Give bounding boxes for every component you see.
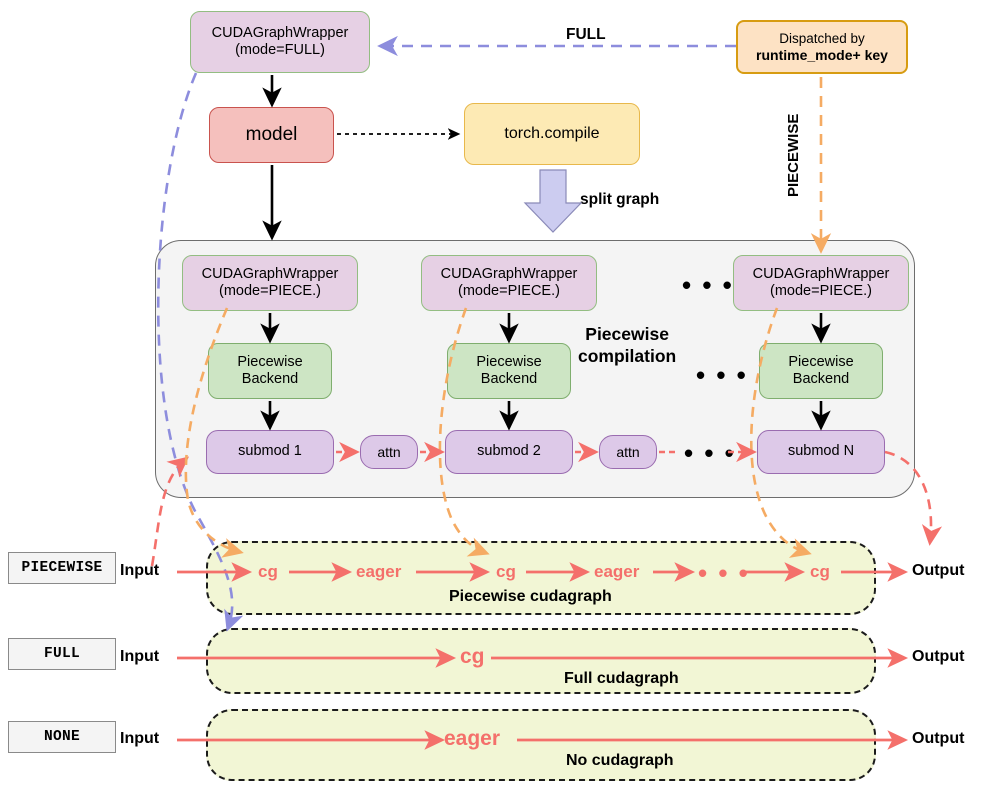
backend-3-line2: Backend	[793, 371, 849, 388]
lane1-stage-1: cg	[258, 562, 278, 582]
backend-2-line1: Piecewise	[476, 354, 541, 371]
wrapper-full-line2: (mode=FULL)	[235, 42, 325, 59]
lane2-output-label: Output	[912, 648, 964, 666]
lane2-stage-1: cg	[460, 645, 485, 669]
piecewise-backend-3[interactable]: Piecewise Backend	[759, 343, 883, 399]
group-ellipsis-backends: • • •	[696, 362, 748, 388]
submod-n[interactable]: submod N	[757, 430, 885, 474]
mode-chip-piecewise-label: PIECEWISE	[21, 560, 102, 576]
mode-chip-full[interactable]: FULL	[8, 638, 116, 670]
piecewise-backend-1[interactable]: Piecewise Backend	[208, 343, 332, 399]
mode-chip-none[interactable]: NONE	[8, 721, 116, 753]
dispatcher-line1: Dispatched by	[779, 31, 865, 47]
diagram-canvas: CUDAGraphWrapper (mode=FULL) model torch…	[0, 0, 985, 800]
submod-2-label: submod 2	[477, 443, 541, 460]
wrapper-piece-2-line1: CUDAGraphWrapper	[441, 266, 578, 283]
wrapper-piece-2-line2: (mode=PIECE.)	[458, 283, 560, 300]
backend-1-line2: Backend	[242, 371, 298, 388]
lane1-stage-4: eager	[594, 562, 639, 582]
piecewise-backend-2[interactable]: Piecewise Backend	[447, 343, 571, 399]
attn-1-label: attn	[377, 444, 400, 461]
submod-n-label: submod N	[788, 443, 854, 460]
cudagraph-wrapper-full-node[interactable]: CUDAGraphWrapper (mode=FULL)	[190, 11, 370, 73]
wrapper-piece-1-line2: (mode=PIECE.)	[219, 283, 321, 300]
model-label: model	[246, 124, 298, 146]
mode-chip-none-label: NONE	[44, 729, 80, 745]
wrapper-piece-3-line1: CUDAGraphWrapper	[753, 266, 890, 283]
lane1-stage-3: cg	[496, 562, 516, 582]
mode-chip-piecewise[interactable]: PIECEWISE	[8, 552, 116, 584]
submod-2[interactable]: submod 2	[445, 430, 573, 474]
wrapper-full-line1: CUDAGraphWrapper	[212, 25, 349, 42]
wrapper-piece-3-line2: (mode=PIECE.)	[770, 283, 872, 300]
piecewise-title-line2: compilation	[578, 346, 676, 368]
lane-box-full	[206, 628, 876, 694]
mode-chip-full-label: FULL	[44, 646, 80, 662]
attn-node-2[interactable]: attn	[599, 435, 657, 469]
lane2-caption: Full cudagraph	[564, 670, 679, 688]
torch-compile-label: torch.compile	[504, 125, 599, 144]
cudagraph-wrapper-piece-3[interactable]: CUDAGraphWrapper (mode=PIECE.)	[733, 255, 909, 311]
lane1-output-label: Output	[912, 562, 964, 580]
wrapper-piece-1-line1: CUDAGraphWrapper	[202, 266, 339, 283]
lane-box-none	[206, 709, 876, 781]
dispatcher-line2: runtime_mode+ key	[756, 47, 888, 64]
backend-3-line1: Piecewise	[788, 354, 853, 371]
piecewise-compilation-title: Piecewise compilation	[578, 324, 676, 368]
lane3-input-label: Input	[120, 730, 159, 748]
lane2-input-label: Input	[120, 648, 159, 666]
lane3-stage-1: eager	[444, 727, 500, 751]
attn-2-label: attn	[616, 444, 639, 461]
model-node[interactable]: model	[209, 107, 334, 163]
group-ellipsis-submods: • • •	[684, 440, 736, 466]
lane1-caption: Piecewise cudagraph	[449, 588, 612, 606]
lane1-stage-ellipsis: • • •	[698, 560, 750, 586]
edge-label-full: FULL	[566, 26, 606, 44]
cudagraph-wrapper-piece-1[interactable]: CUDAGraphWrapper (mode=PIECE.)	[182, 255, 358, 311]
group-ellipsis-wrappers: • • •	[682, 272, 734, 298]
split-graph-label: split graph	[580, 191, 659, 209]
lane3-output-label: Output	[912, 730, 964, 748]
submod-1-label: submod 1	[238, 443, 302, 460]
dispatcher-node[interactable]: Dispatched by runtime_mode+ key	[736, 20, 908, 74]
split-graph-block-arrow	[525, 170, 581, 232]
lane1-stage-2: eager	[356, 562, 401, 582]
torch-compile-node[interactable]: torch.compile	[464, 103, 640, 165]
lane1-stage-5: cg	[810, 562, 830, 582]
edge-label-piecewise: PIECEWISE	[785, 114, 802, 197]
attn-node-1[interactable]: attn	[360, 435, 418, 469]
lane1-input-label: Input	[120, 562, 159, 580]
backend-1-line1: Piecewise	[237, 354, 302, 371]
backend-2-line2: Backend	[481, 371, 537, 388]
submod-1[interactable]: submod 1	[206, 430, 334, 474]
lane3-caption: No cudagraph	[566, 752, 674, 770]
cudagraph-wrapper-piece-2[interactable]: CUDAGraphWrapper (mode=PIECE.)	[421, 255, 597, 311]
piecewise-title-line1: Piecewise	[578, 324, 676, 346]
